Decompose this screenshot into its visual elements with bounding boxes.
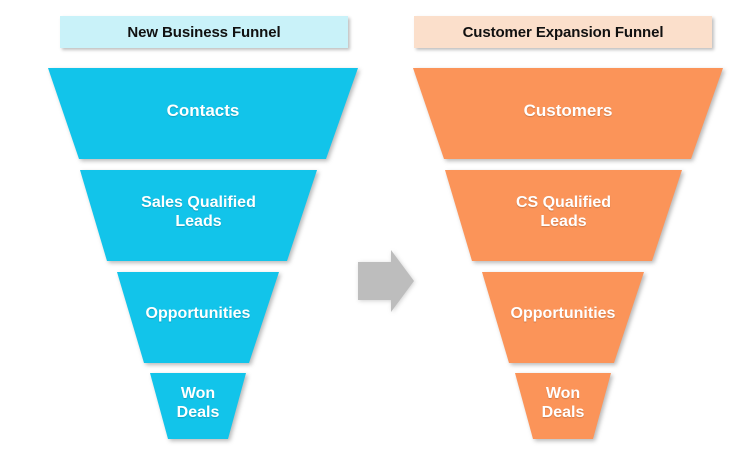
funnel-stage-shape	[117, 272, 279, 363]
funnel-customer-expansion: Customers CS Qualified Leads Opportuniti…	[377, 0, 754, 455]
funnel-stage-cs-qualified-leads[interactable]: CS Qualified Leads	[445, 170, 682, 261]
funnel-stage-shape	[80, 170, 317, 261]
funnel-diagram-canvas: New Business Funnel Customer Expansion F…	[0, 0, 754, 455]
funnel-stage-shape	[48, 68, 358, 159]
funnel-stage-shape	[515, 373, 611, 439]
funnel-stage-shape	[150, 373, 246, 439]
funnel-stage-opportunities[interactable]: Opportunities	[117, 272, 279, 363]
funnel-stage-customers[interactable]: Customers	[413, 68, 723, 159]
funnel-stage-won-deals[interactable]: Won Deals	[515, 373, 611, 439]
funnel-stage-sales-qualified-leads[interactable]: Sales Qualified Leads	[80, 170, 317, 261]
funnel-stage-shape	[445, 170, 682, 261]
funnel-new-business: Contacts Sales Qualified Leads Opportuni…	[0, 0, 377, 455]
funnel-stage-shape	[482, 272, 644, 363]
funnel-stage-opportunities[interactable]: Opportunities	[482, 272, 644, 363]
funnel-stage-shape	[413, 68, 723, 159]
funnel-stage-contacts[interactable]: Contacts	[48, 68, 358, 159]
funnel-stage-won-deals[interactable]: Won Deals	[150, 373, 246, 439]
